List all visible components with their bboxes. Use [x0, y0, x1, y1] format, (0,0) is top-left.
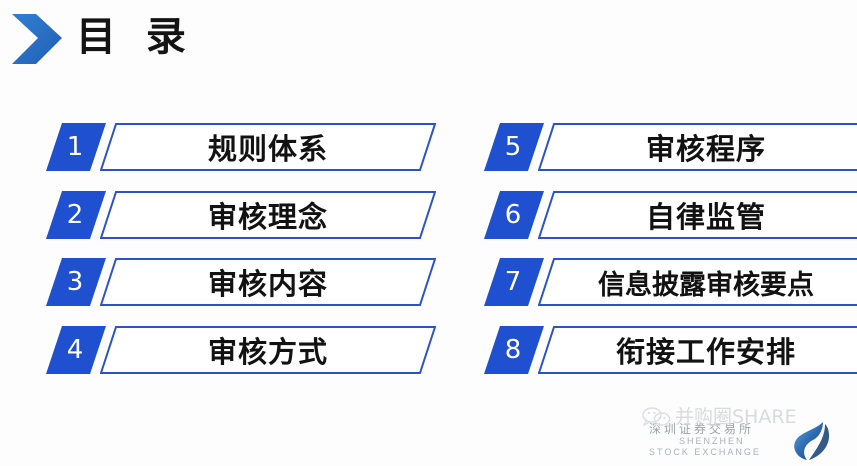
- toc-number-badge: 2: [46, 191, 106, 239]
- toc-number: 7: [505, 258, 522, 306]
- toc-number: 2: [67, 191, 84, 239]
- toc-item-6[interactable]: 6 自律监管: [478, 191, 857, 239]
- toc-label: 审核方式: [100, 326, 436, 374]
- toc-item-2[interactable]: 2 审核理念: [40, 191, 436, 239]
- toc-label-box[interactable]: 衔接工作安排: [538, 326, 857, 374]
- toc-label: 信息披露审核要点: [538, 258, 857, 306]
- wechat-chat-bubble-icon: [641, 407, 671, 427]
- toc-label-box[interactable]: 审核方式: [100, 326, 436, 374]
- toc-label-box[interactable]: 信息披露审核要点: [538, 258, 857, 306]
- toc-label: 规则体系: [100, 123, 436, 171]
- wechat-watermark: 并购圈SHARE: [641, 404, 841, 430]
- toc-label-box[interactable]: 自律监管: [538, 191, 857, 239]
- toc-label-box[interactable]: 审核内容: [100, 258, 436, 306]
- toc-item-7[interactable]: 7 信息披露审核要点: [478, 258, 857, 306]
- toc-item-1[interactable]: 1 规则体系: [40, 123, 436, 171]
- toc-label: 审核内容: [100, 258, 436, 306]
- szse-name-en-line2: STOCK EXCHANGE: [649, 447, 761, 457]
- page-title: 目 录: [76, 12, 194, 62]
- toc-number-badge: 3: [46, 258, 106, 306]
- toc-item-4[interactable]: 4 审核方式: [40, 326, 436, 374]
- toc-label: 审核理念: [100, 191, 436, 239]
- toc-number: 8: [505, 326, 522, 374]
- wechat-watermark-text: 并购圈SHARE: [675, 404, 797, 430]
- toc-item-8[interactable]: 8 衔接工作安排: [478, 326, 857, 374]
- toc-list: 1 规则体系 2 审核理念: [0, 112, 857, 392]
- toc-item-5[interactable]: 5 审核程序: [478, 123, 857, 171]
- toc-number-badge: 1: [46, 123, 106, 171]
- toc-column-right: 5 审核程序 6 自律监管: [478, 112, 857, 392]
- szse-name-en-line1: SHENZHEN: [679, 436, 745, 446]
- toc-item-3[interactable]: 3 审核内容: [40, 258, 436, 306]
- toc-number-badge: 5: [484, 123, 544, 171]
- toc-label: 自律监管: [538, 191, 857, 239]
- chevron-right-icon: [8, 10, 66, 68]
- toc-number: 6: [505, 191, 522, 239]
- toc-number: 1: [67, 123, 84, 171]
- toc-number: 3: [67, 258, 84, 306]
- toc-number-badge: 8: [484, 326, 544, 374]
- toc-number: 4: [67, 326, 84, 374]
- toc-number-badge: 4: [46, 326, 106, 374]
- toc-label: 审核程序: [538, 123, 857, 171]
- toc-number-badge: 7: [484, 258, 544, 306]
- toc-number-badge: 6: [484, 191, 544, 239]
- toc-label-box[interactable]: 审核理念: [100, 191, 436, 239]
- slide-footer: 深圳证券交易所 SHENZHEN STOCK EXCHANGE: [621, 402, 841, 464]
- toc-label-box[interactable]: 规则体系: [100, 123, 436, 171]
- toc-label: 衔接工作安排: [538, 326, 857, 374]
- toc-column-left: 1 规则体系 2 审核理念: [40, 112, 440, 392]
- toc-label-box[interactable]: 审核程序: [538, 123, 857, 171]
- toc-number: 5: [505, 123, 522, 171]
- slide-canvas: 目 录 1 规则体系 2: [0, 0, 857, 466]
- slide-header: 目 录: [0, 4, 400, 76]
